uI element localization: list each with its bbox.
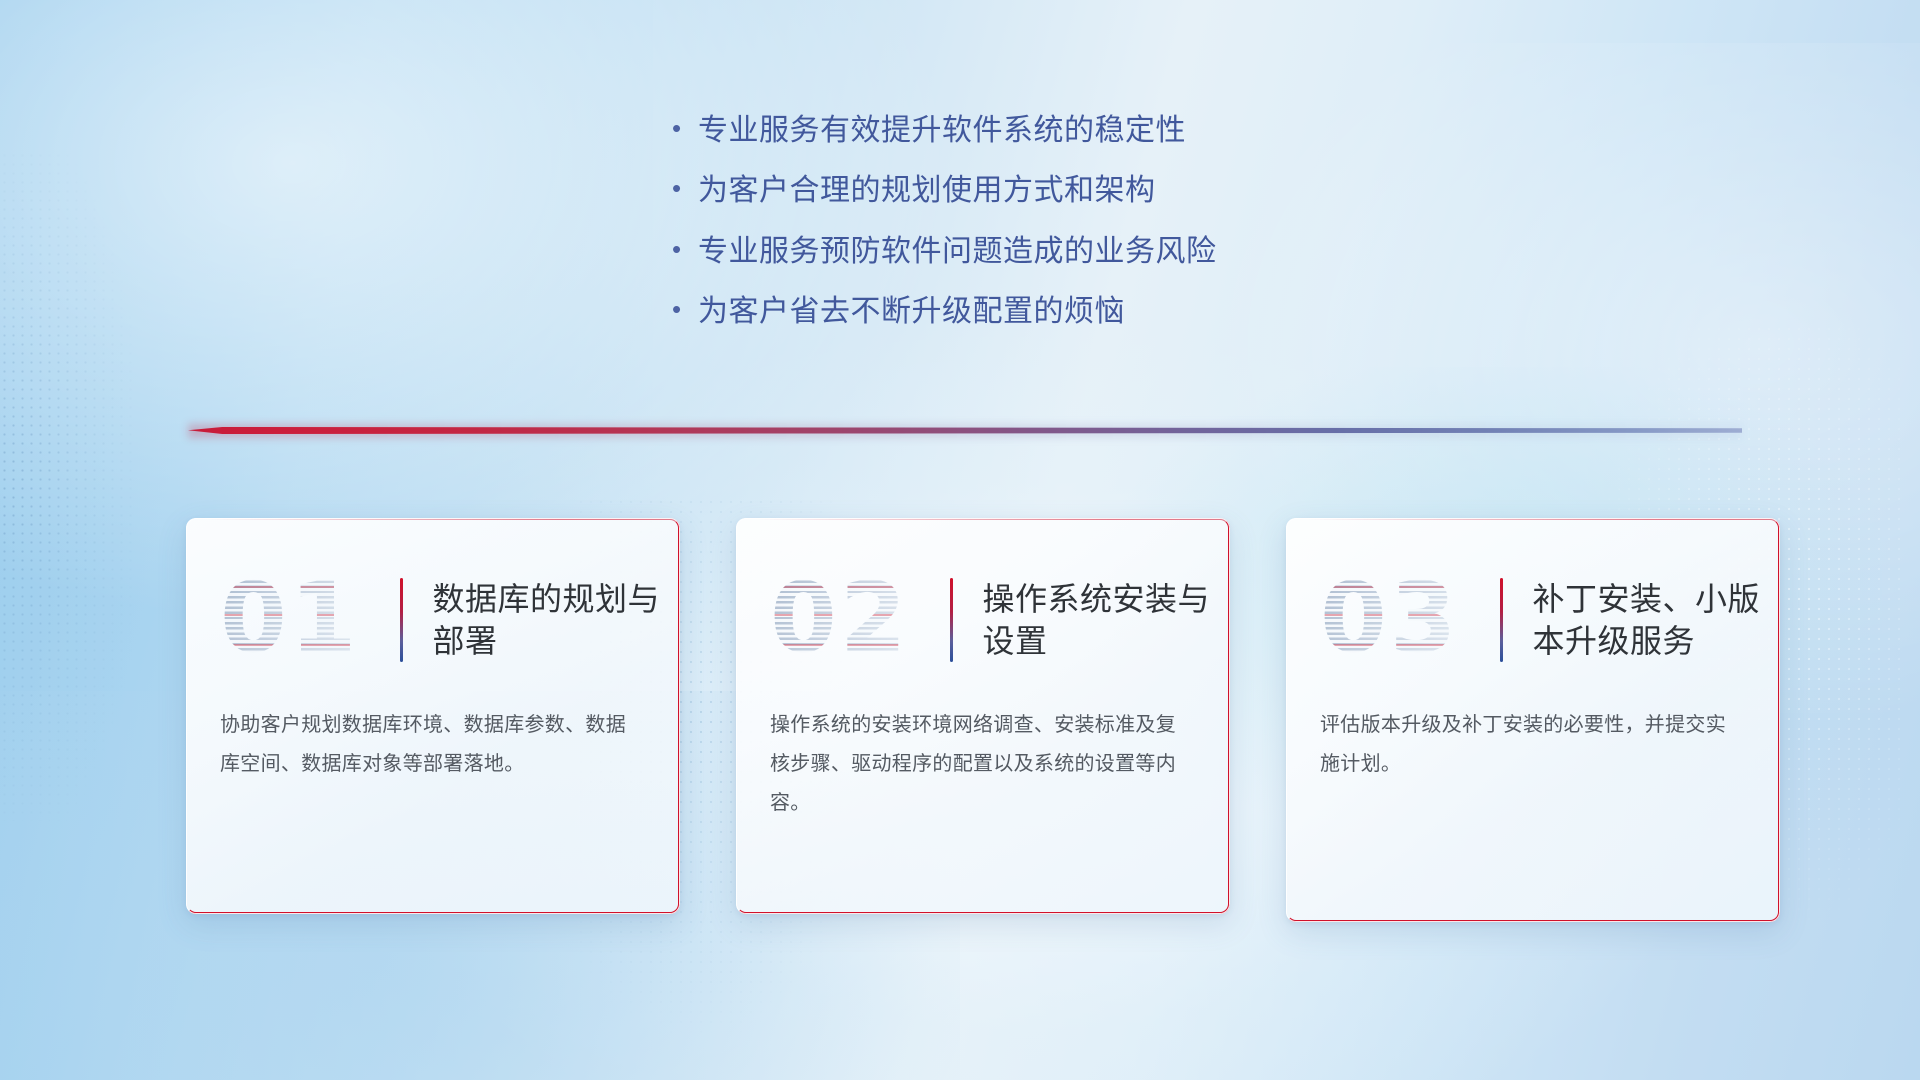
card-description: 评估版本升级及补丁安装的必要性，并提交实施计划。 xyxy=(1286,678,1780,784)
bullet-text: 专业服务预防软件问题造成的业务风险 xyxy=(698,233,1217,271)
card-number-badge: 01 01 xyxy=(220,570,398,670)
card-title: 操作系统安装与设置 xyxy=(983,578,1223,662)
card-number: 02 xyxy=(770,570,948,666)
bullet-text: 为客户省去不断升级配置的烦恼 xyxy=(698,293,1125,331)
service-card-02[interactable]: 02 02 操作系统安装与设置 操作系统的安装环境网络调查、安装标准及复核步骤、… xyxy=(736,518,1230,914)
section-divider xyxy=(188,424,1742,438)
bullet-marker-icon: • xyxy=(672,115,698,141)
card-number-badge: 02 02 xyxy=(770,570,948,670)
bullet-marker-icon: • xyxy=(672,236,698,262)
card-description: 协助客户规划数据库环境、数据库参数、数据库空间、数据库对象等部署落地。 xyxy=(186,678,680,784)
card-number-badge: 03 03 xyxy=(1320,570,1498,670)
card-title-divider-bar xyxy=(400,578,403,662)
card-title: 数据库的规划与部署 xyxy=(433,578,673,662)
card-number: 01 xyxy=(220,570,398,666)
card-description: 操作系统的安装环境网络调查、安装标准及复核步骤、驱动程序的配置以及系统的设置等内… xyxy=(736,678,1230,823)
bullet-item: • 为客户省去不断升级配置的烦恼 xyxy=(672,293,1217,331)
service-card-03[interactable]: 03 03 补丁安装、小版本升级服务 评估版本升级及补丁安装的必要性，并提交实施… xyxy=(1286,518,1780,922)
bullet-item: • 为客户合理的规划使用方式和架构 xyxy=(672,172,1217,210)
bullet-text: 为客户合理的规划使用方式和架构 xyxy=(698,172,1156,210)
card-title-divider-bar xyxy=(950,578,953,662)
service-card-01[interactable]: 01 01 数据库的规划与部署 协助客户规划数据库环境、数据库参数、数据库空间、… xyxy=(186,518,680,914)
card-number: 03 xyxy=(1320,570,1498,666)
bullet-marker-icon: • xyxy=(672,296,698,322)
benefits-bullet-list: • 专业服务有效提升软件系统的稳定性 • 为客户合理的规划使用方式和架构 • 专… xyxy=(672,112,1217,332)
bullet-item: • 专业服务预防软件问题造成的业务风险 xyxy=(672,233,1217,271)
bullet-item: • 专业服务有效提升软件系统的稳定性 xyxy=(672,112,1217,150)
card-title: 补丁安装、小版本升级服务 xyxy=(1533,578,1773,662)
bullet-text: 专业服务有效提升软件系统的稳定性 xyxy=(698,112,1186,150)
service-cards-section: 01 01 数据库的规划与部署 协助客户规划数据库环境、数据库参数、数据库空间、… xyxy=(0,518,1920,922)
bullet-marker-icon: • xyxy=(672,175,698,201)
card-title-divider-bar xyxy=(1500,578,1503,662)
